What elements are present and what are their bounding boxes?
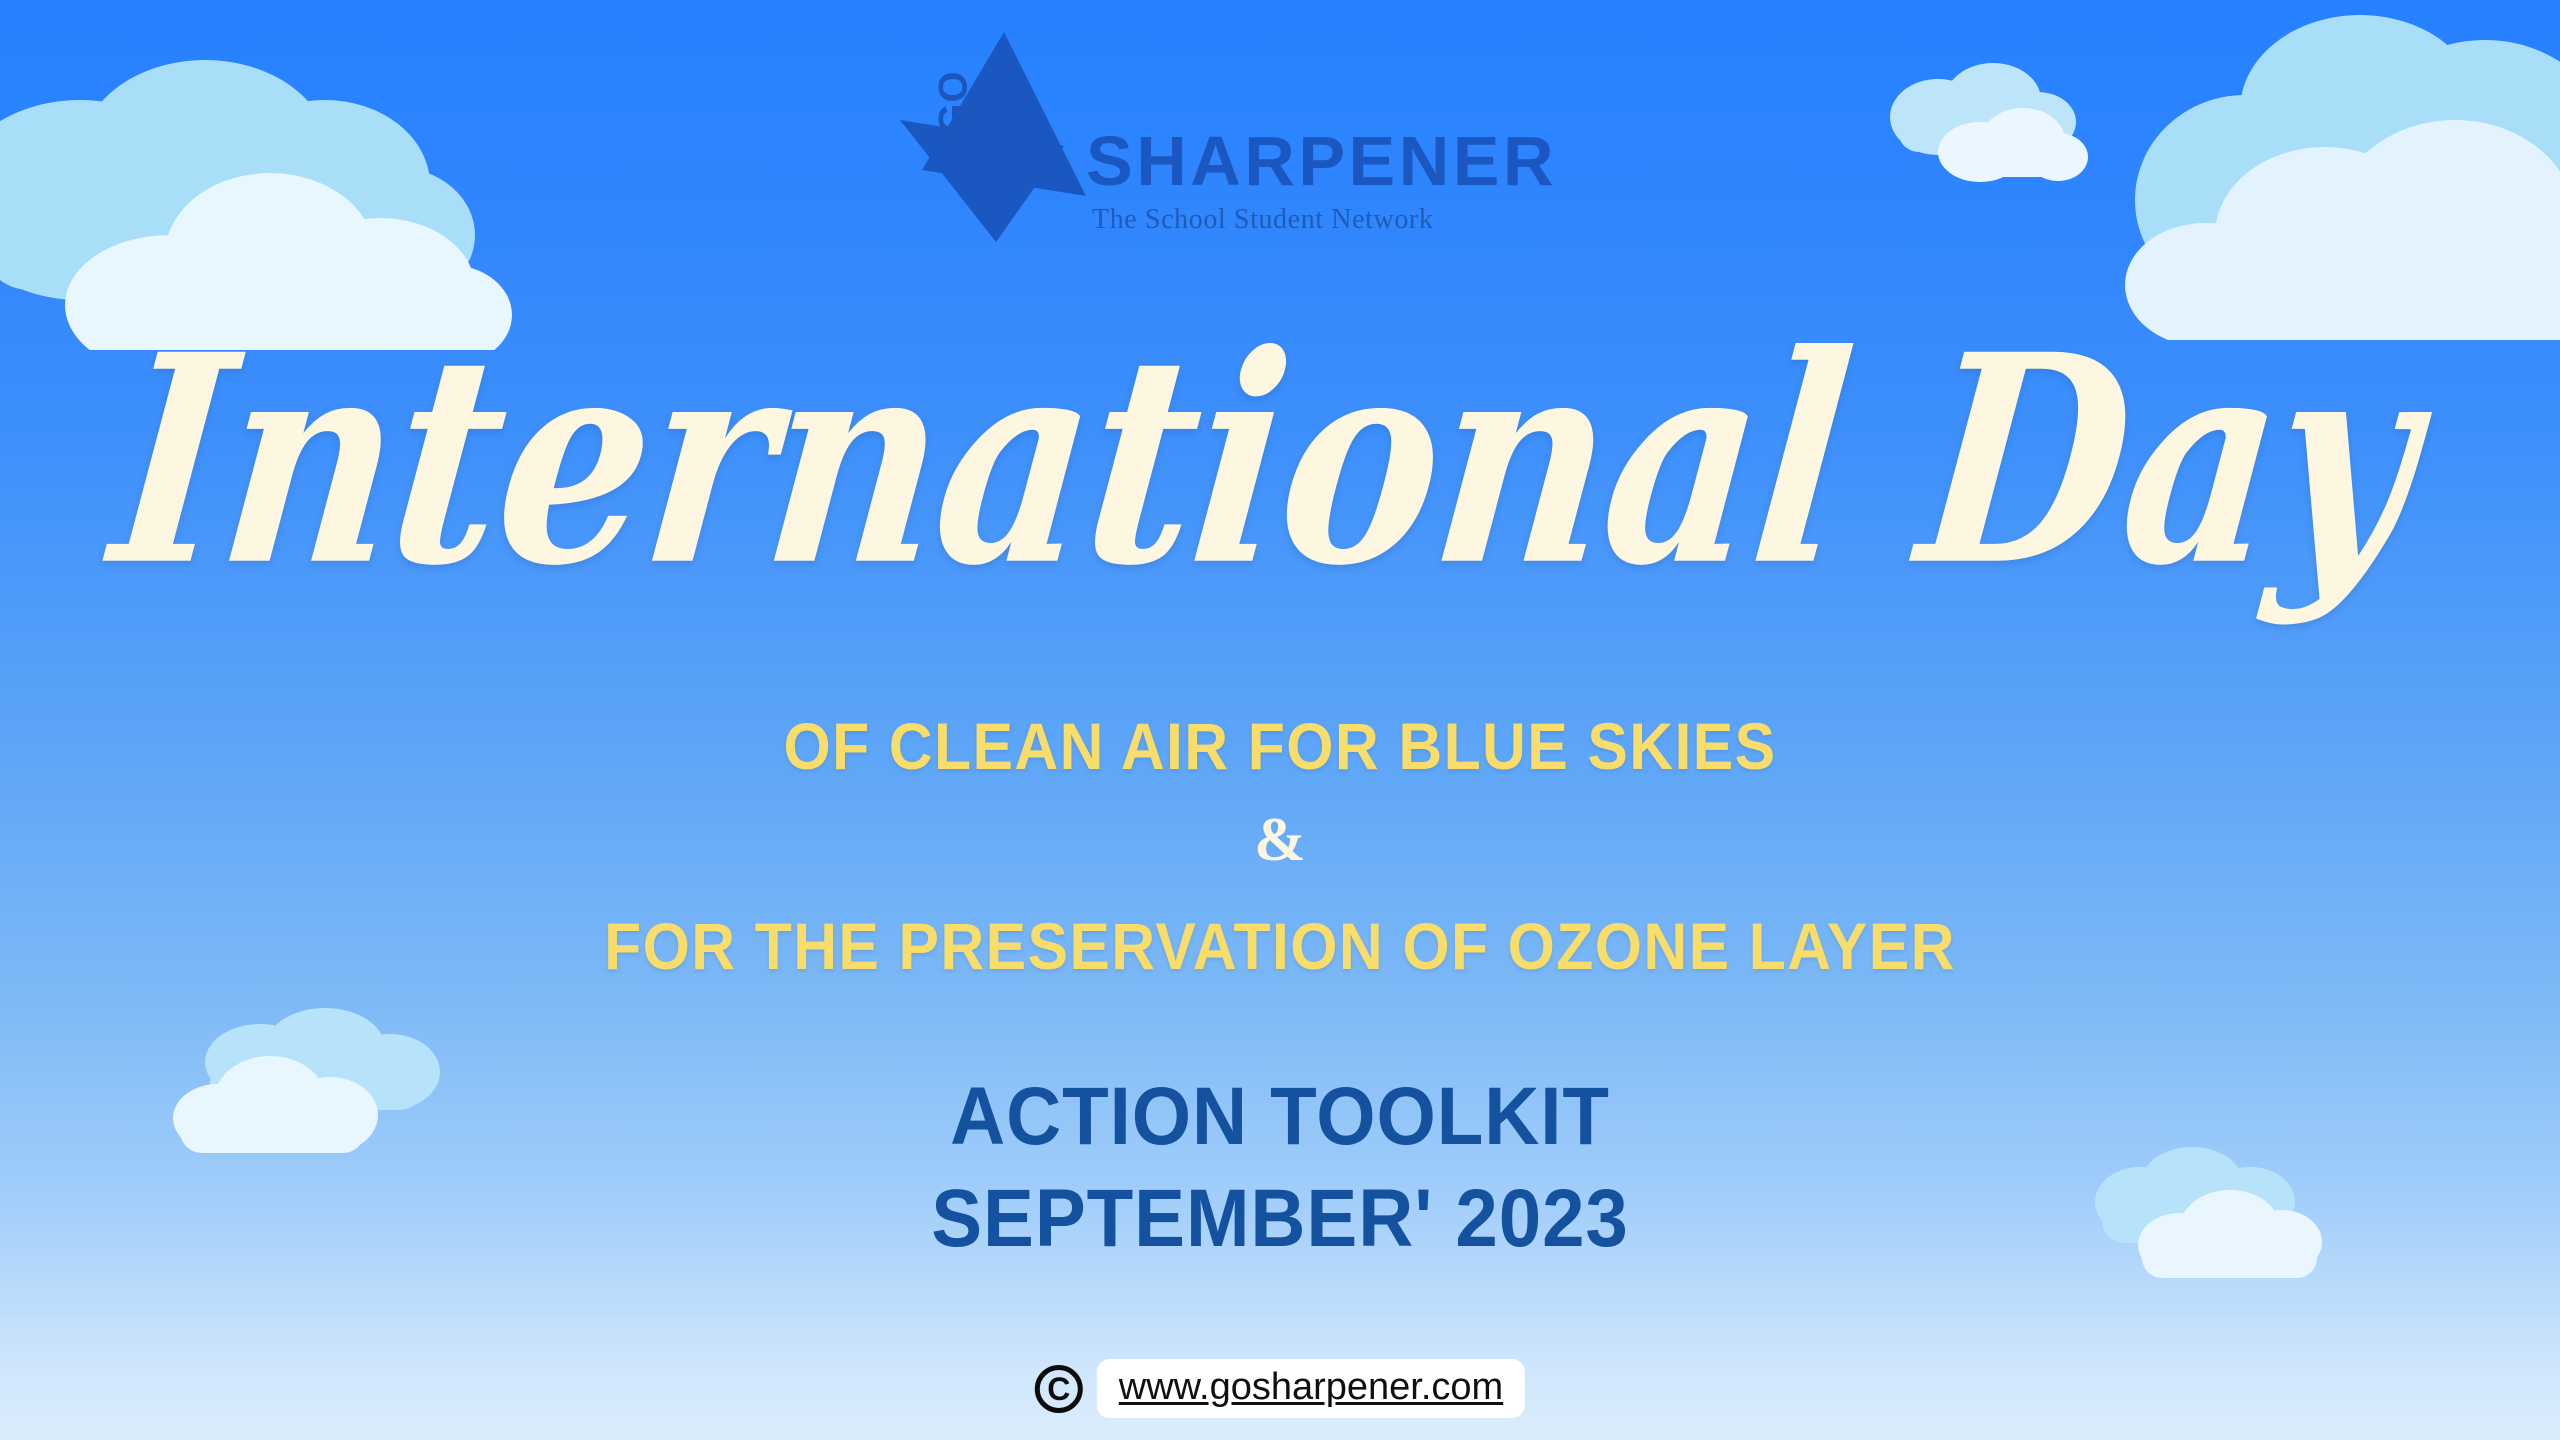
page-title: International Day xyxy=(0,318,2560,605)
subtitle-line-clean-air: OF CLEAN AIR FOR BLUE SKIES xyxy=(102,708,2457,784)
subtitle-line-ozone-layer: FOR THE PRESERVATION OF OZONE LAYER xyxy=(102,908,2457,984)
cloud-top-right-small xyxy=(1878,52,2108,192)
poster-canvas: GO SHARPENER The School Student Network … xyxy=(0,0,2560,1440)
go-sharpener-star-icon xyxy=(900,28,1100,246)
toolkit-heading: ACTION TOOLKIT xyxy=(90,1070,2471,1164)
logo-tagline-text: The School Student Network xyxy=(1092,204,1433,236)
cloud-front-layer xyxy=(1938,108,2088,182)
brand-logo: GO SHARPENER The School Student Network xyxy=(900,28,1660,248)
footer: C www.gosharpener.com xyxy=(1035,1359,1525,1418)
logo-wordmark-text: SHARPENER xyxy=(1086,126,1557,196)
cloud-top-right-large xyxy=(2095,10,2560,340)
website-link[interactable]: www.gosharpener.com xyxy=(1119,1366,1503,1408)
toolkit-date: SEPTEMBER' 2023 xyxy=(90,1172,2471,1266)
copyright-icon: C xyxy=(1035,1365,1083,1413)
cloud-back-layer xyxy=(1890,63,2076,155)
logo-go-text: GO xyxy=(932,70,977,134)
website-pill[interactable]: www.gosharpener.com xyxy=(1097,1359,1525,1418)
subtitle-ampersand: & xyxy=(0,805,2560,876)
cloud-back-layer xyxy=(2135,15,2560,310)
cloud-back-layer xyxy=(0,60,475,303)
